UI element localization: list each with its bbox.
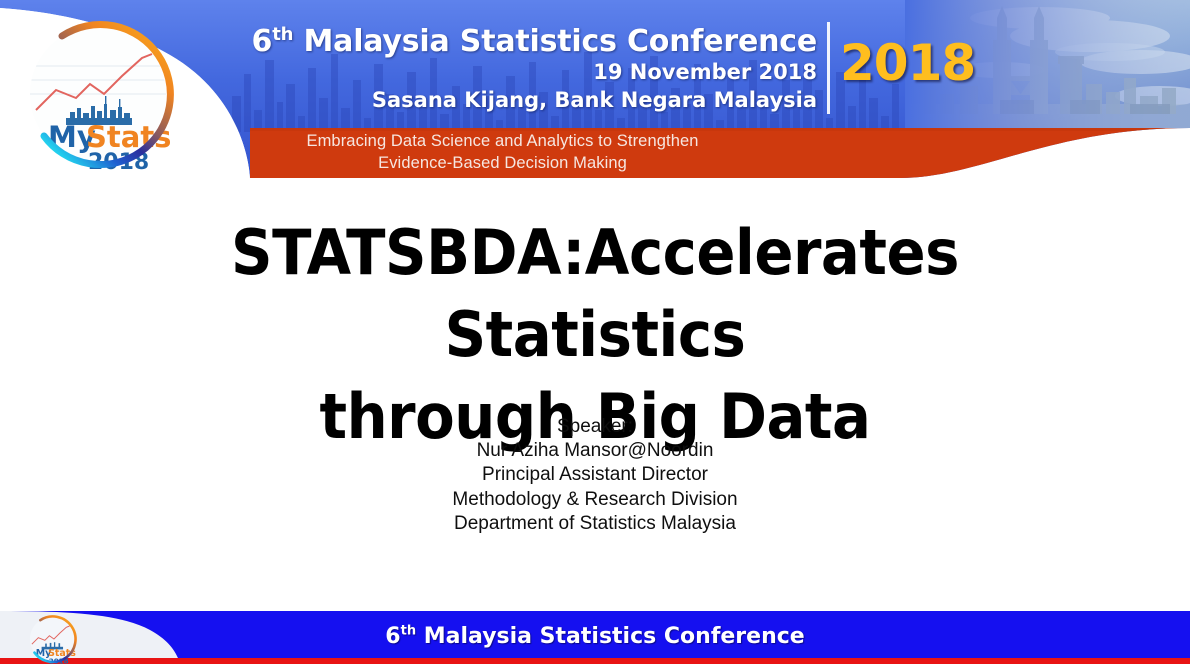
mystats-logo: My Stats 2018: [18, 14, 178, 174]
footer-banner: 6th Malaysia Statistics Conference: [0, 608, 1190, 670]
header-banner: 6th Malaysia Statistics Conference 19 No…: [0, 0, 1190, 178]
footer-mystats-logo: My Stats 2018: [22, 613, 82, 665]
footer-blue-band: [0, 611, 1190, 658]
speaker-name: Nur Aziha Mansor@Noordin: [0, 439, 1190, 463]
kl-skyline-photo: [905, 0, 1190, 132]
speaker-division: Methodology & Research Division: [0, 488, 1190, 512]
slide-title-line-1: STATSBDA:Accelerates Statistics: [97, 212, 1092, 376]
header-graphic: [0, 0, 1190, 178]
speaker-organisation: Department of Statistics Malaysia: [0, 512, 1190, 536]
speaker-label: Speaker:: [0, 415, 1190, 439]
slide-canvas: 6th Malaysia Statistics Conference 19 No…: [0, 0, 1190, 670]
red-tagline-band: [250, 128, 1190, 178]
speaker-position: Principal Assistant Director: [0, 463, 1190, 487]
footer-graphic: [0, 608, 1190, 670]
footer-red-strip: [0, 658, 1190, 664]
speaker-block: Speaker: Nur Aziha Mansor@Noordin Princi…: [0, 415, 1190, 536]
